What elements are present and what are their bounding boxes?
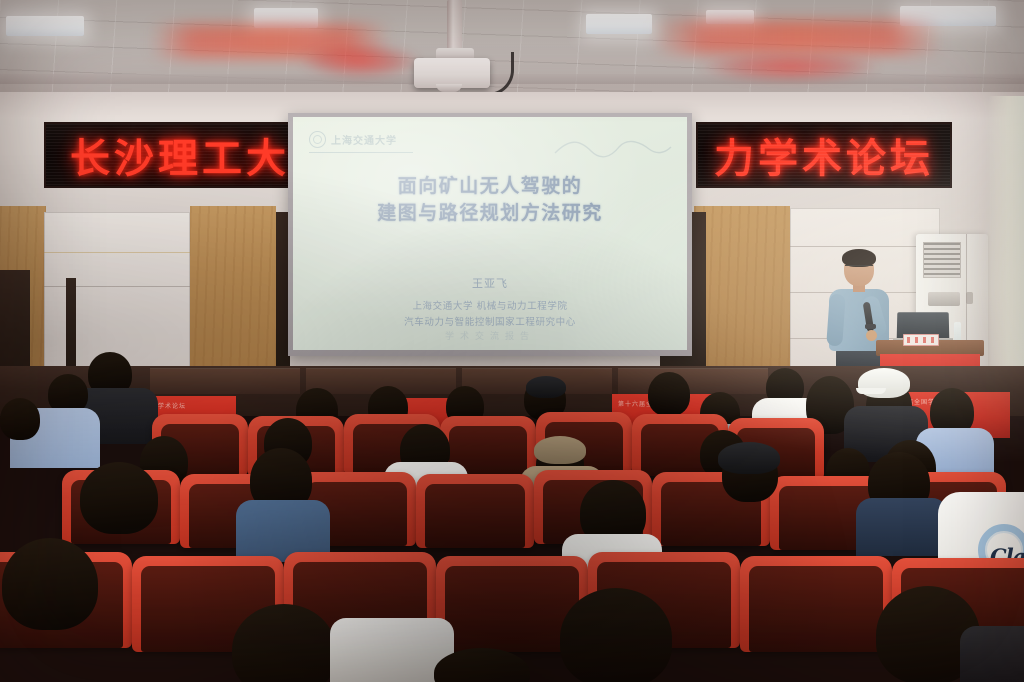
slide-author: 王亚飞	[293, 275, 687, 291]
projector-mount-pole	[447, 0, 462, 52]
audience-cap	[718, 442, 780, 474]
slide-affiliation: 上海交通大学 机械与动力工程学院 汽车动力与智能控制国家工程研究中心	[293, 299, 687, 330]
audience-head	[0, 398, 40, 440]
slide-affiliation-line-1: 上海交通大学 机械与动力工程学院	[293, 299, 687, 315]
slide-affiliation-line-2: 汽车动力与智能控制国家工程研究中心	[293, 315, 687, 331]
panel-seam	[44, 252, 190, 253]
audience-head	[2, 538, 98, 630]
led-ceiling-reflection	[300, 44, 420, 78]
podium-papers	[903, 334, 939, 346]
slide-title-line-1: 面向矿山无人驾驶的	[293, 173, 687, 200]
audience-shirt	[960, 626, 1024, 682]
glasses-icon	[845, 265, 873, 271]
ceiling-light-panel	[586, 14, 652, 34]
projection-screen-frame: 上海交通大学 面向矿山无人驾驶的 建图与路径规划方法研究 王亚飞 上海交通大学 …	[288, 113, 692, 356]
sjtu-logo-text: 上海交通大学	[331, 132, 397, 147]
ceiling-light-panel	[6, 16, 84, 36]
cap-brim-icon	[856, 388, 886, 394]
slide-wave-decoration	[553, 135, 673, 161]
audience-head	[80, 462, 158, 534]
led-banner-left-text: 长沙理工大	[70, 126, 290, 184]
led-banner-left: 长沙理工大	[44, 122, 296, 188]
sjtu-logo-emblem-icon	[309, 131, 326, 148]
presenter-watch	[865, 324, 876, 329]
projector-lens	[436, 84, 462, 92]
slide-title: 面向矿山无人驾驶的 建图与路径规划方法研究	[293, 173, 687, 227]
wall-dark-column	[694, 212, 706, 386]
audience-shirt	[856, 498, 948, 556]
audience-head	[648, 372, 690, 416]
auditorium-seat	[416, 474, 534, 548]
slide-title-line-2: 建图与路径规划方法研究	[293, 200, 687, 227]
ac-indicator	[966, 292, 973, 304]
audience-head	[560, 588, 672, 682]
front-desk-row	[618, 368, 768, 394]
water-bottle-icon	[954, 322, 961, 342]
wall-wood-panel	[694, 206, 790, 386]
auditorium-seat	[740, 556, 892, 652]
led-banner-right-text: 力学术论坛	[714, 126, 934, 184]
slide-logo-rule	[309, 152, 413, 153]
led-banner-right: 力学术论坛	[696, 122, 952, 188]
sjtu-logo: 上海交通大学	[309, 131, 397, 148]
audience-cap	[526, 376, 566, 398]
ac-vent-louvers	[923, 242, 961, 278]
led-ceiling-reflection	[652, 20, 942, 54]
front-desk-row	[150, 368, 300, 394]
window-glare	[988, 96, 1024, 392]
wall-wood-panel	[190, 206, 276, 386]
led-ceiling-reflection	[700, 52, 880, 82]
slide-footer: 学术交流报告	[293, 329, 687, 342]
audience-cap	[534, 436, 586, 464]
presenter-hand	[866, 330, 877, 341]
presentation-slide: 上海交通大学 面向矿山无人驾驶的 建图与路径规划方法研究 王亚飞 上海交通大学 …	[293, 117, 687, 350]
ac-control-panel	[928, 292, 960, 306]
lecture-hall-scene: 长沙理工大 力学术论坛 上海交通大学 面向矿山无人驾驶的 建图与路径规划方法研究…	[0, 0, 1024, 682]
